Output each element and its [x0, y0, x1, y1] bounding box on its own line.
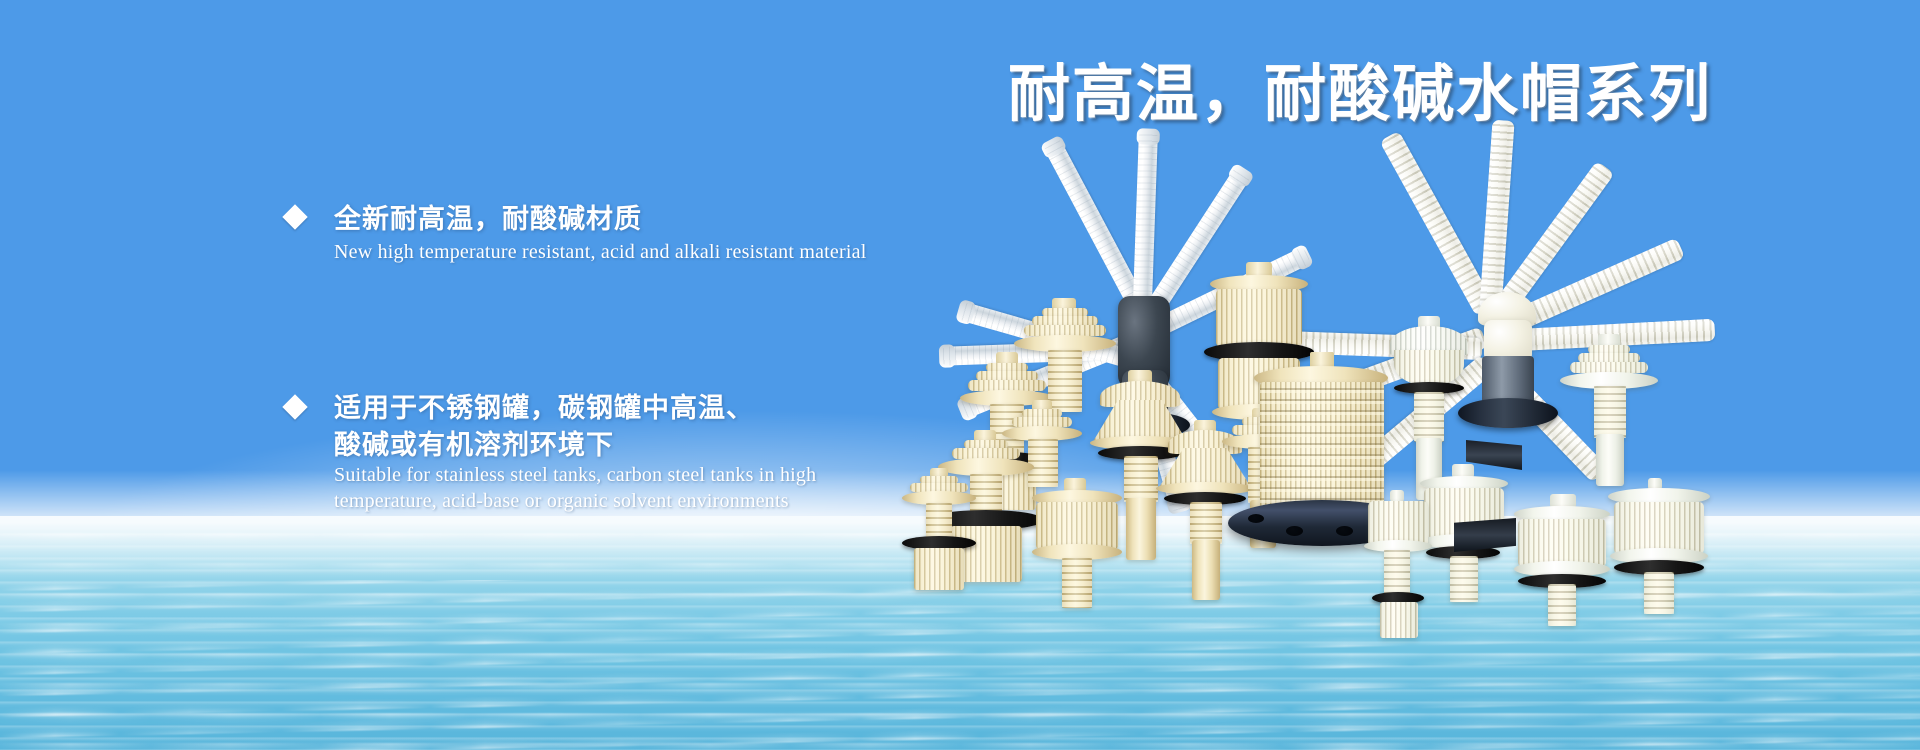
spider-arm-corrugated	[1379, 131, 1495, 317]
bullet-item-2: 适用于不锈钢罐，碳钢罐中高温、 酸碱或有机溶剂环境下 Suitable for …	[286, 390, 816, 515]
nozzle-threaded-stem	[1548, 584, 1576, 626]
bullet-item-1: 全新耐高温，耐酸碱材质 New high temperature resista…	[286, 200, 866, 266]
nozzle-threaded-stem	[1124, 456, 1158, 502]
nozzle-threaded-stem	[1594, 386, 1626, 438]
nozzle-threaded-stem	[1414, 392, 1444, 442]
nozzle-threaded-stem	[1028, 439, 1058, 487]
banner-title: 耐高温，耐酸碱水帽系列	[1008, 62, 1712, 127]
nozzle-filter-body	[1614, 502, 1704, 554]
flange-bolt-hole	[1286, 526, 1303, 536]
bullet-1-cn: 全新耐高温，耐酸碱材质	[334, 200, 866, 238]
diamond-bullet-icon	[282, 204, 307, 229]
spider-flange-disc	[1458, 398, 1558, 428]
nozzle-filter-body	[1368, 501, 1428, 545]
nozzle-threaded-stem	[1048, 350, 1082, 412]
bullet-2-en-line-1: Suitable for stainless steel tanks, carb…	[334, 463, 816, 489]
bracket-black	[1466, 440, 1522, 470]
nozzle-lower-body	[914, 548, 964, 590]
nozzle-tube	[1126, 498, 1156, 560]
large-filter-slot-rings	[1260, 382, 1384, 510]
nozzle-threaded-stem	[1450, 556, 1478, 602]
flange-bolt-hole	[1248, 514, 1264, 523]
spider-arm	[1133, 130, 1158, 316]
nozzle-threaded-stem	[1062, 558, 1092, 608]
bullet-2-cn-line-1: 适用于不锈钢罐，碳钢罐中高温、	[334, 390, 816, 427]
diamond-bullet-icon	[282, 394, 307, 419]
nozzle-filter-body	[1216, 289, 1302, 347]
bullet-2-en-line-2: temperature, acid-base or organic solven…	[334, 489, 816, 515]
nozzle-filter-body	[1518, 519, 1606, 567]
nozzle-threaded-stem	[970, 474, 1002, 514]
bullet-2-cn-line-2: 酸碱或有机溶剂环境下	[334, 427, 816, 464]
bullet-1-en-line-1: New high temperature resistant, acid and…	[334, 240, 866, 266]
nozzle-threaded-stem	[1384, 550, 1410, 596]
nozzle-filter-body	[1036, 502, 1118, 550]
nozzle-threaded-stem	[926, 503, 952, 539]
nozzle-threaded-stem	[1644, 572, 1674, 614]
nozzle-tube	[1596, 434, 1624, 486]
nozzle-tube	[1192, 540, 1220, 600]
flange-bolt-hole	[1336, 526, 1353, 536]
nozzle-threaded-stem	[1190, 502, 1222, 544]
nozzle-lower-body	[1380, 602, 1418, 638]
bracket-black	[1454, 518, 1516, 552]
product-banner: 耐高温，耐酸碱水帽系列 全新耐高温，耐酸碱材质 New high tempera…	[0, 0, 1920, 750]
